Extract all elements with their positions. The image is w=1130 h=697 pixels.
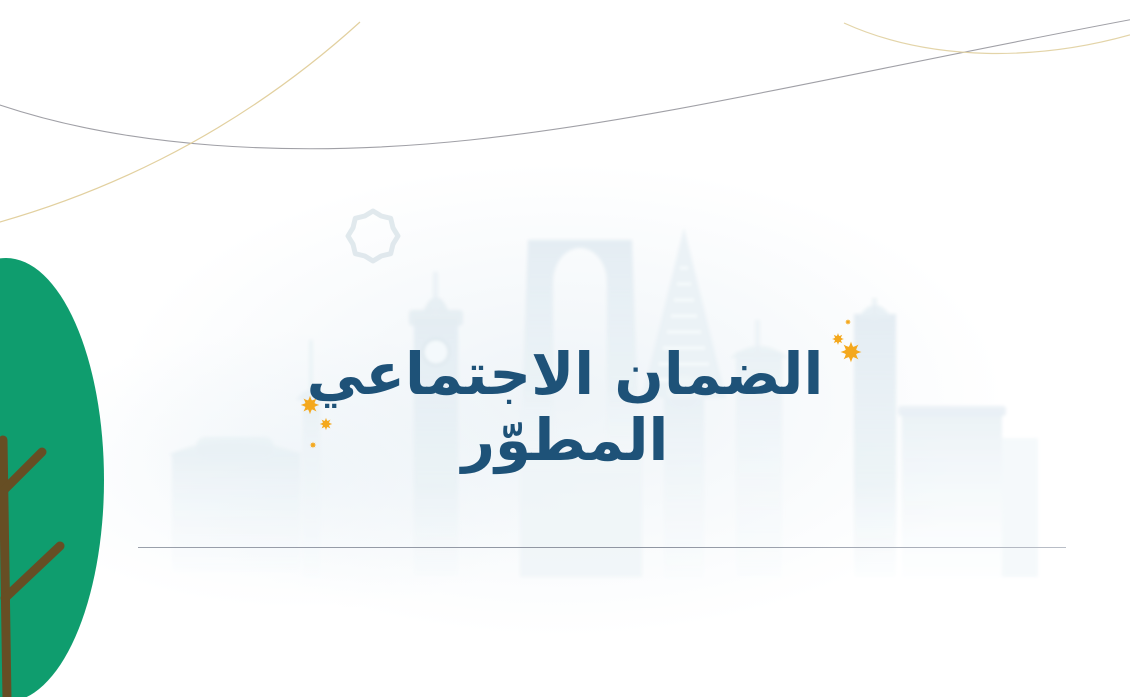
tree-trunk-icon: [3, 440, 60, 697]
gold-curve-right-icon: [844, 23, 1130, 53]
gray-curve-icon: [0, 16, 1130, 149]
title-divider-rule: [138, 547, 1066, 548]
title-line-2: المطوّر: [0, 411, 1130, 471]
slide-canvas: الضمان الاجتماعي المطوّر: [0, 0, 1130, 697]
gold-curve-left-icon: [0, 22, 360, 230]
sparkle-star: [844, 318, 852, 326]
title-line-1: الضمان الاجتماعي: [0, 345, 1130, 405]
page-title: الضمان الاجتماعي المطوّر: [0, 345, 1130, 470]
tree-foliage-icon: [0, 258, 104, 697]
